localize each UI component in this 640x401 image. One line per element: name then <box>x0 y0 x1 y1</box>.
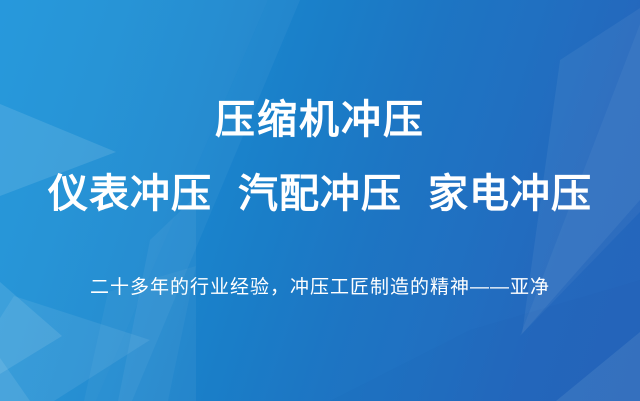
banner-subtitle-item-2: 汽配冲压 <box>238 172 402 216</box>
banner-title-main: 压缩机冲压 <box>215 100 425 140</box>
banner-title-sub: 仪表冲压汽配冲压家电冲压 <box>48 174 592 214</box>
banner-subtitle-item-3: 家电冲压 <box>428 172 592 216</box>
banner-tagline: 二十多年的行业经验，冲压工匠制造的精神——亚净 <box>90 278 550 297</box>
promo-banner: 压缩机冲压 仪表冲压汽配冲压家电冲压 二十多年的行业经验，冲压工匠制造的精神——… <box>0 0 640 401</box>
banner-content: 压缩机冲压 仪表冲压汽配冲压家电冲压 二十多年的行业经验，冲压工匠制造的精神——… <box>0 0 640 401</box>
banner-subtitle-item-1: 仪表冲压 <box>48 172 212 216</box>
